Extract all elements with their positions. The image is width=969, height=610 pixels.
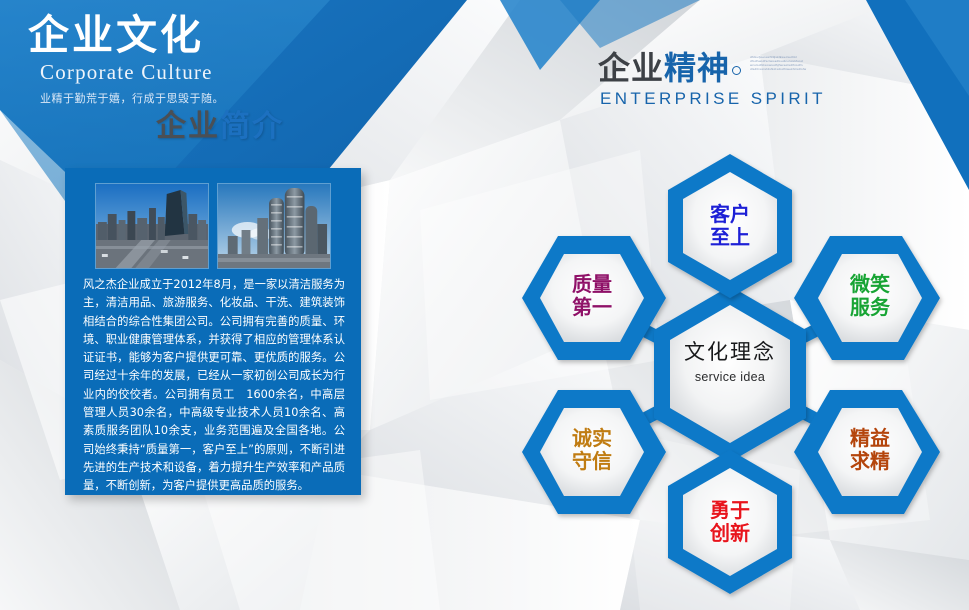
decorative-microtext: dfdsufjoeiwehfdjsklkweinuchkl dfsdfuetdf… [750,56,828,86]
photo-row [95,183,331,267]
spirit-title-dark: 企业 [598,49,664,87]
spirit-section-heading: 企业精神 ENTERPRISE SPIRIT dfdsufjoeiwehfdjs… [598,52,826,109]
hexagon-bottom [668,450,792,594]
city-skyline-photo-left [95,183,209,269]
skyline-illustration-left [96,184,208,268]
city-towers-photo-right [217,183,331,269]
culture-hexagon-diagram: 文化理念 service idea 客户 至上 微笑 服务 精益 求精 勇于 创… [492,118,969,610]
spirit-title-blue: 精神 [664,49,730,87]
hexagon-top [668,154,792,298]
hexagon-lower-left [522,390,666,514]
poster-canvas: 企业文化 Corporate Culture 业精于勤荒于嬉，行成于思毁于随。 … [0,0,969,610]
hexagon-lower-right [794,390,940,514]
intro-section-heading: 企业简介 [156,112,284,142]
microtext-line: dlsdfnwcisfdsfkclsdsdfnwekfclsdlsfw [750,68,828,72]
intro-heading-blue: 简介 [220,110,284,143]
center-label-en: service idea [640,370,820,384]
center-label-cn: 文化理念 [640,336,820,366]
spirit-title-en: ENTERPRISE SPIRIT [598,89,826,109]
towers-illustration-right [218,184,330,268]
company-intro-panel: 风之杰企业成立于2012年8月，是一家以清洁服务为主，清洁用品、旅游服务、化妆品… [65,168,361,495]
intro-heading-dark: 企业 [156,110,220,143]
decorative-dot-icon [732,66,741,75]
company-intro-text: 风之杰企业成立于2012年8月，是一家以清洁服务为主，清洁用品、旅游服务、化妆品… [83,276,345,496]
